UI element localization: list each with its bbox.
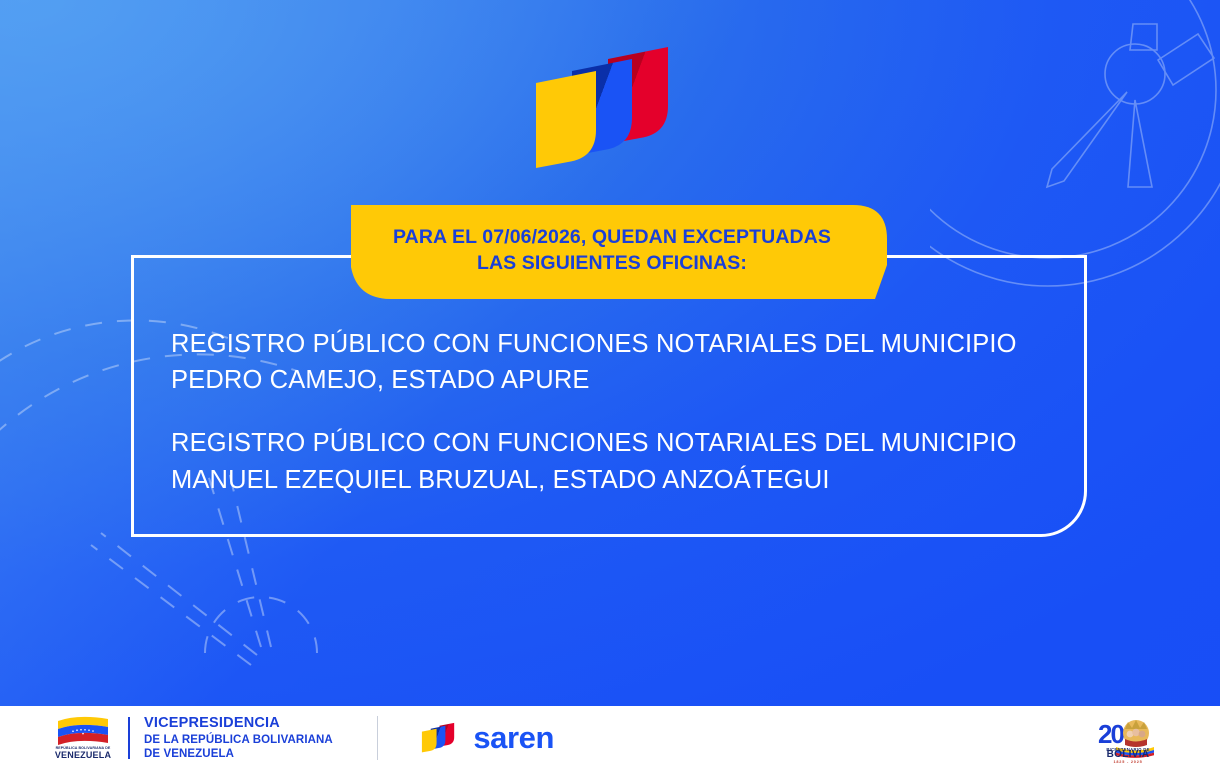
saren-footer-logo: saren — [418, 720, 554, 756]
saren-logo-mark — [520, 44, 700, 174]
banner-line-2: LAS SIGUIENTES OFICINAS: — [477, 251, 747, 277]
vp-line-1: VICEPRESIDENCIA — [144, 715, 333, 733]
venezuela-flag-emblem: REPÚBLICA BOLIVARIANA DE VENEZUELA — [52, 716, 114, 761]
vp-line-2: DE LA REPÚBLICA BOLIVARIANA — [144, 733, 333, 747]
office-line-1: REGISTRO PÚBLICO CON FUNCIONES NOTARIALE… — [171, 425, 1051, 461]
vp-line-3: DE VENEZUELA — [144, 747, 333, 761]
notice-banner: PARA EL 07/06/2026, QUEDAN EXCEPTUADAS L… — [337, 205, 887, 299]
saren-mark-icon — [418, 721, 462, 755]
bicentenario-badge: 20 BICENTENARIO DE BOLIVIA 1825 - 2025 — [1092, 713, 1164, 763]
svg-text:20: 20 — [1098, 719, 1124, 749]
vicepresidencia-lockup: VICEPRESIDENCIA DE LA REPÚBLICA BOLIVARI… — [144, 715, 333, 761]
flag-caption-big: VENEZUELA — [55, 751, 111, 761]
footer-right-group: 20 BICENTENARIO DE BOLIVIA 1825 - 2025 — [1092, 713, 1164, 763]
office-line-1: REGISTRO PÚBLICO CON FUNCIONES NOTARIALE… — [171, 326, 1051, 362]
banner-text: PARA EL 07/06/2026, QUEDAN EXCEPTUADAS L… — [337, 205, 887, 299]
office-entry: REGISTRO PÚBLICO CON FUNCIONES NOTARIALE… — [171, 425, 1051, 497]
bicentenario-caption-main: BOLIVIA — [1092, 749, 1164, 760]
footer-left-group: REPÚBLICA BOLIVARIANA DE VENEZUELA VICEP… — [52, 715, 554, 761]
office-list: REGISTRO PÚBLICO CON FUNCIONES NOTARIALE… — [171, 326, 1051, 498]
footer-divider — [377, 716, 379, 760]
saren-wordmark: saren — [473, 720, 554, 756]
office-line-2: MANUEL EZEQUIEL BRUZUAL, ESTADO ANZOÁTEG… — [171, 462, 1051, 498]
yellow-panel — [536, 71, 596, 168]
bicentenario-caption-years: 1825 - 2025 — [1092, 760, 1164, 764]
banner-line-1: PARA EL 07/06/2026, QUEDAN EXCEPTUADAS — [393, 225, 831, 251]
footer: REPÚBLICA BOLIVARIANA DE VENEZUELA VICEP… — [0, 706, 1220, 770]
flag-divider — [128, 717, 130, 759]
office-line-2: PEDRO CAMEJO, ESTADO APURE — [171, 362, 1051, 398]
office-entry: REGISTRO PÚBLICO CON FUNCIONES NOTARIALE… — [171, 326, 1051, 398]
venezuela-flag-icon — [54, 716, 112, 746]
poster: PARA EL 07/06/2026, QUEDAN EXCEPTUADAS L… — [0, 0, 1220, 770]
